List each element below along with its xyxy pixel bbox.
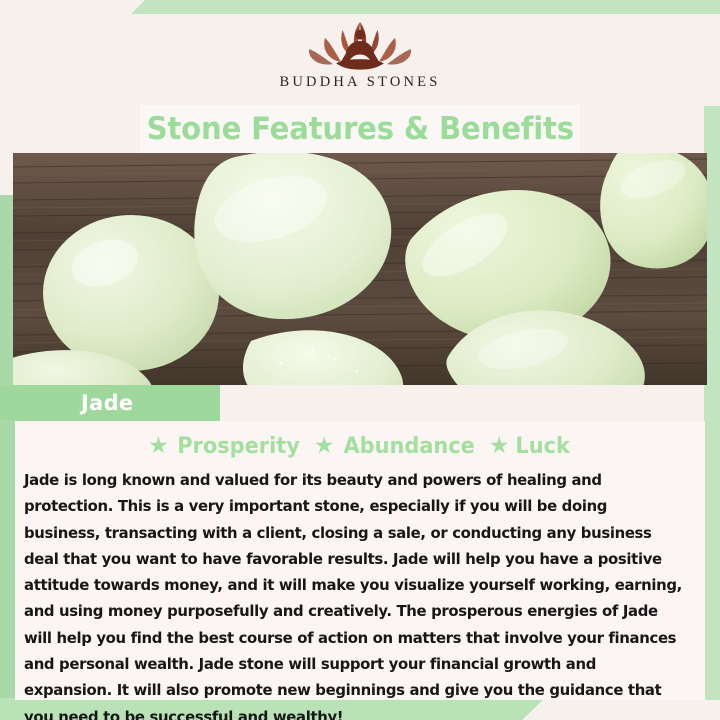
benefit-label: Luck xyxy=(516,434,570,459)
star-icon: ★ xyxy=(148,434,169,457)
stone-name: Jade xyxy=(81,391,133,415)
star-icon: ★ xyxy=(489,434,510,457)
jade-stones-illustration xyxy=(13,153,707,385)
page-title: Stone Features & Benefits xyxy=(146,111,573,147)
content-panel: ★ Prosperity ★ Abundance ★ Luck Jade is … xyxy=(15,421,705,700)
benefit-item: ★ Abundance xyxy=(314,434,478,459)
star-icon: ★ xyxy=(314,434,335,457)
lotus-meditation-icon xyxy=(280,14,440,76)
benefit-item: ★ Prosperity xyxy=(148,434,303,459)
benefit-label: Prosperity xyxy=(177,434,300,459)
stone-name-band: Jade xyxy=(13,385,220,421)
infographic-page: BUDDHA STONES Stone Features & Benefits xyxy=(0,0,720,720)
benefit-label: Abundance xyxy=(343,434,474,459)
top-accent-band xyxy=(0,0,720,14)
brand-name: BUDDHA STONES xyxy=(280,74,441,91)
brand-logo: BUDDHA STONES xyxy=(0,14,720,106)
benefits-row: ★ Prosperity ★ Abundance ★ Luck xyxy=(15,427,705,465)
description-text: Jade is long known and valued for its be… xyxy=(24,467,686,720)
benefit-item: ★ Luck xyxy=(489,434,572,459)
title-banner: Stone Features & Benefits xyxy=(140,105,580,153)
stone-photo xyxy=(13,153,707,385)
